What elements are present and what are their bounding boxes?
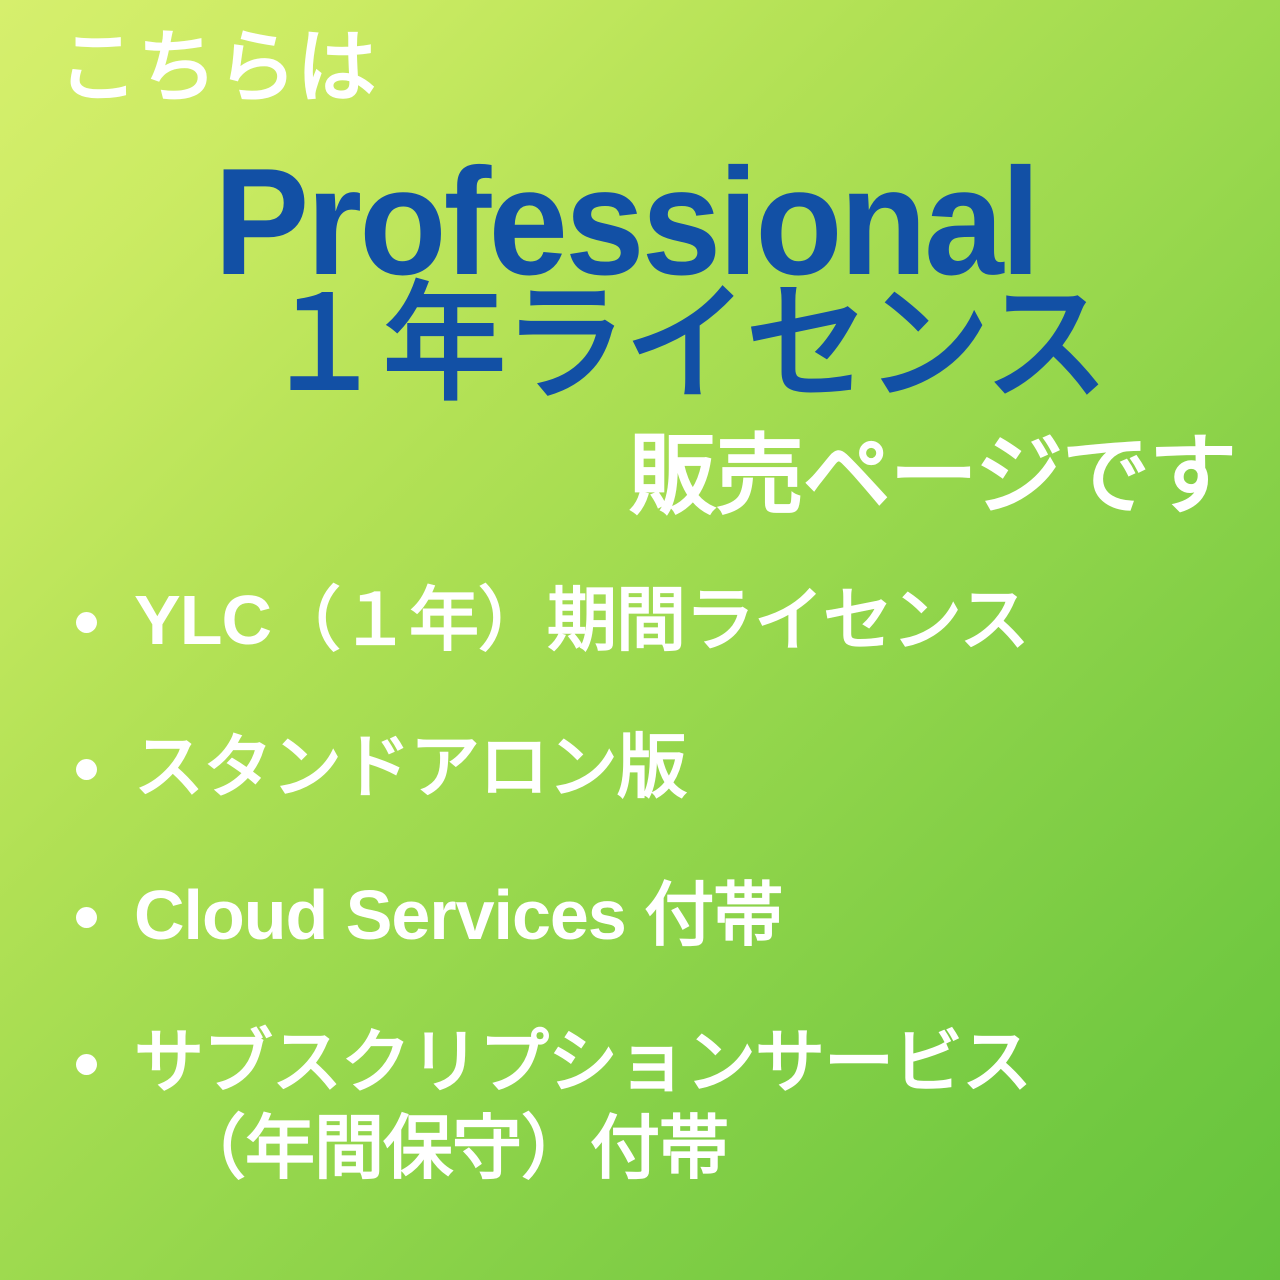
feature-list: YLC（１年）期間ライセンス スタンドアロン版 Cloud Services 付… xyxy=(66,578,1240,1191)
list-item-label: スタンドアロン版 xyxy=(134,725,1240,810)
bullet-dot-icon xyxy=(76,907,97,928)
list-item-label: Cloud Services 付帯 xyxy=(134,873,1240,958)
bullet-dot-icon xyxy=(76,1054,97,1075)
list-item: サブスクリプションサービス （年間保守）付帯 xyxy=(66,1020,1240,1191)
list-item-label-second-line: （年間保守）付帯 xyxy=(134,1106,1240,1191)
list-item-label: YLC（１年）期間ライセンス xyxy=(134,578,1240,663)
list-item: YLC（１年）期間ライセンス xyxy=(66,578,1240,663)
list-item-label: サブスクリプションサービス xyxy=(134,1020,1240,1105)
headline-intro: こちらは xyxy=(58,24,376,112)
list-item: スタンドアロン版 xyxy=(66,725,1240,810)
headline-license-term: １年ライセンス xyxy=(262,278,1106,412)
bullet-dot-icon xyxy=(76,612,97,633)
product-poster: こちらは Professional １年ライセンス 販売ページです YLC（１年… xyxy=(0,0,1280,1280)
headline-outro: 販売ページです xyxy=(629,428,1236,525)
list-item: Cloud Services 付帯 xyxy=(66,873,1240,958)
bullet-dot-icon xyxy=(76,759,97,780)
